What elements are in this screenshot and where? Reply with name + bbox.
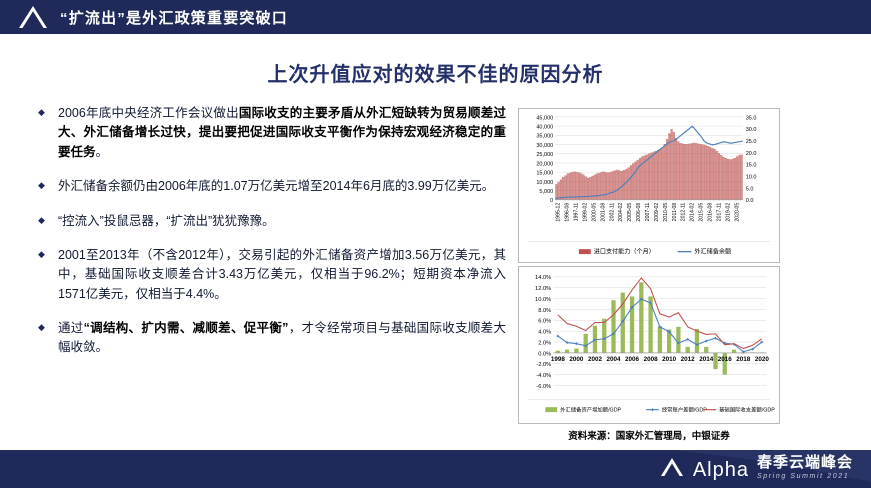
svg-text:1997-11: 1997-11 xyxy=(574,203,580,222)
svg-text:25.0: 25.0 xyxy=(746,139,757,145)
svg-text:1995-12: 1995-12 xyxy=(556,203,562,222)
svg-text:0: 0 xyxy=(550,198,553,204)
svg-text:6.0%: 6.0% xyxy=(538,319,551,325)
chart-1-svg: 05,00010,00015,00020,00025,00030,00035,0… xyxy=(519,109,779,262)
svg-text:2016: 2016 xyxy=(718,356,733,363)
bullet-text: 2001至2013年（不含2012年），交易引起的外汇储备资产增加3.56万亿美… xyxy=(58,246,506,304)
svg-text:45,000: 45,000 xyxy=(536,115,553,121)
svg-text:15,000: 15,000 xyxy=(536,171,553,177)
list-item: ◆ 2001至2013年（不含2012年），交易引起的外汇储备资产增加3.56万… xyxy=(38,246,506,304)
svg-text:30,000: 30,000 xyxy=(536,143,553,149)
svg-text:2002-11: 2002-11 xyxy=(609,203,615,222)
svg-text:2015-05: 2015-05 xyxy=(699,203,705,222)
svg-text:4.0%: 4.0% xyxy=(538,330,551,336)
chart-2-svg: -6.0%-4.0%-2.0%0.0%2.0%4.0%6.0%8.0%10.0%… xyxy=(519,267,779,423)
source-note: 资料来源：国家外汇管理局，中银证券 xyxy=(518,428,780,442)
brand-cn-text: 春季云端峰会 xyxy=(757,455,853,470)
bullet-segment: 通过 xyxy=(58,321,84,335)
slide-header-bar: “扩流出”是外汇政策重要突破口 xyxy=(0,0,871,34)
list-item: ◆ “控流入”投鼠忌器，“扩流出”犹犹豫豫。 xyxy=(38,212,506,231)
svg-text:2020-05: 2020-05 xyxy=(734,203,740,222)
svg-text:0.0: 0.0 xyxy=(746,198,754,204)
svg-text:2011-08: 2011-08 xyxy=(672,203,678,222)
brand-alpha-text: Alpha xyxy=(693,460,749,480)
svg-text:1996-08: 1996-08 xyxy=(565,203,571,222)
svg-text:2018: 2018 xyxy=(736,356,751,363)
svg-text:2004-02: 2004-02 xyxy=(618,203,624,222)
svg-text:12.0%: 12.0% xyxy=(535,286,551,292)
chart-plot-area: 05,00010,00015,00020,00025,00030,00035,0… xyxy=(519,109,779,262)
list-item: ◆ 外汇储备余额仍由2006年底的1.07万亿美元增至2014年6月底的3.99… xyxy=(38,177,506,196)
chart-bop-surplus-gdp: -6.0%-4.0%-2.0%0.0%2.0%4.0%6.0%8.0%10.0%… xyxy=(518,266,780,424)
list-item: ◆ 通过“调结构、扩内需、减顺差、促平衡”，才令经常项目与基础国际收支顺差大幅收… xyxy=(38,319,506,358)
bullet-segment: 。 xyxy=(96,145,109,159)
svg-text:经常账户差额/GDP: 经常账户差额/GDP xyxy=(662,406,707,414)
footer-brand: Alpha 春季云端峰会 Spring Summit 2021 xyxy=(659,455,853,480)
svg-text:2014: 2014 xyxy=(699,356,714,363)
bullet-segment: 外汇储备余额仍由2006年底的1.07万亿美元增至2014年6月底的3.99万亿… xyxy=(58,179,494,193)
svg-text:2006-08: 2006-08 xyxy=(636,203,642,222)
bullet-text: “控流入”投鼠忌器，“扩流出”犹犹豫豫。 xyxy=(58,212,506,231)
svg-text:5,000: 5,000 xyxy=(539,189,553,195)
svg-text:外汇储备资产增加额/GDP: 外汇储备资产增加额/GDP xyxy=(560,406,621,414)
svg-text:-4.0%: -4.0% xyxy=(536,373,551,379)
svg-text:-6.0%: -6.0% xyxy=(536,384,551,390)
bullet-segment-strong: “调结构、扩内需、减顺差、促平衡” xyxy=(84,321,289,335)
svg-text:进口支付能力（个月）: 进口支付能力（个月） xyxy=(594,248,655,256)
svg-text:2012: 2012 xyxy=(681,356,696,363)
svg-text:2006: 2006 xyxy=(625,356,640,363)
svg-text:5.0: 5.0 xyxy=(746,186,754,192)
svg-text:2008: 2008 xyxy=(644,356,659,363)
bullet-text: 2006年底中央经济工作会议做出国际收支的主要矛盾从外汇短缺转为贸易顺差过大、外… xyxy=(58,104,506,162)
svg-text:15.0: 15.0 xyxy=(746,163,757,169)
svg-text:2017-11: 2017-11 xyxy=(716,203,722,222)
slide-footer-bar: Alpha 春季云端峰会 Spring Summit 2021 xyxy=(0,450,871,488)
svg-text:35,000: 35,000 xyxy=(536,134,553,140)
chart-reserves-import-capacity: 05,00010,00015,00020,00025,00030,00035,0… xyxy=(518,108,780,263)
svg-text:2016-08: 2016-08 xyxy=(708,203,714,222)
alpha-letter-icon xyxy=(659,456,685,478)
svg-text:2014-02: 2014-02 xyxy=(690,203,696,222)
svg-text:2002: 2002 xyxy=(588,356,603,363)
header-title: “扩流出”是外汇政策重要突破口 xyxy=(60,7,288,28)
svg-text:2020: 2020 xyxy=(755,356,770,363)
svg-text:2000: 2000 xyxy=(569,356,584,363)
svg-text:25,000: 25,000 xyxy=(536,152,553,158)
chart-plot-area: -6.0%-4.0%-2.0%0.0%2.0%4.0%6.0%8.0%10.0%… xyxy=(519,267,779,423)
svg-text:1999-02: 1999-02 xyxy=(582,203,588,222)
svg-text:10,000: 10,000 xyxy=(536,180,553,186)
svg-text:2007-11: 2007-11 xyxy=(645,203,651,222)
svg-text:10.0%: 10.0% xyxy=(535,297,551,303)
svg-text:2010: 2010 xyxy=(662,356,677,363)
svg-text:2009-02: 2009-02 xyxy=(654,203,660,222)
svg-text:2000-05: 2000-05 xyxy=(591,203,597,222)
svg-text:1998: 1998 xyxy=(551,356,566,363)
bullet-diamond-icon: ◆ xyxy=(38,246,58,304)
page-title: 上次升值应对的效果不佳的原因分析 xyxy=(0,58,871,87)
svg-text:2.0%: 2.0% xyxy=(538,340,551,346)
svg-text:基础国际收支差额/GDP: 基础国际收支差额/GDP xyxy=(719,406,775,414)
svg-text:20.0: 20.0 xyxy=(746,151,757,157)
svg-text:10.0: 10.0 xyxy=(746,174,757,180)
svg-text:30.0: 30.0 xyxy=(746,127,757,133)
svg-text:0.0%: 0.0% xyxy=(538,351,551,357)
svg-text:外汇储备余额: 外汇储备余额 xyxy=(694,248,731,256)
bullet-text: 通过“调结构、扩内需、减顺差、促平衡”，才令经常项目与基础国际收支顺差大幅收敛。 xyxy=(58,319,506,358)
bullet-segment: 2001至2013年（不含2012年），交易引起的外汇储备资产增加3.56万亿美… xyxy=(58,248,506,301)
svg-text:2005-05: 2005-05 xyxy=(627,203,633,222)
bullet-text: 外汇储备余额仍由2006年底的1.07万亿美元增至2014年6月底的3.99万亿… xyxy=(58,177,506,196)
bullet-diamond-icon: ◆ xyxy=(38,177,58,196)
bullet-segment: “控流入”投鼠忌器，“扩流出”犹犹豫豫。 xyxy=(58,214,275,228)
svg-text:14.0%: 14.0% xyxy=(535,275,551,281)
svg-text:8.0%: 8.0% xyxy=(538,308,551,314)
svg-text:2012-11: 2012-11 xyxy=(681,203,687,222)
svg-text:40,000: 40,000 xyxy=(536,124,553,130)
bullet-diamond-icon: ◆ xyxy=(38,104,58,162)
bullet-list: ◆ 2006年底中央经济工作会议做出国际收支的主要矛盾从外汇短缺转为贸易顺差过大… xyxy=(38,104,506,373)
bullet-diamond-icon: ◆ xyxy=(38,319,58,358)
bullet-diamond-icon: ◆ xyxy=(38,212,58,231)
list-item: ◆ 2006年底中央经济工作会议做出国际收支的主要矛盾从外汇短缺转为贸易顺差过大… xyxy=(38,104,506,162)
alpha-triangle-logo-icon xyxy=(16,4,50,30)
svg-text:2010-05: 2010-05 xyxy=(663,203,669,222)
svg-text:2019-02: 2019-02 xyxy=(725,203,731,222)
bullet-segment: 2006年底中央经济工作会议做出 xyxy=(58,106,239,120)
svg-text:20,000: 20,000 xyxy=(536,161,553,167)
svg-text:-2.0%: -2.0% xyxy=(536,362,551,368)
svg-text:35.0: 35.0 xyxy=(746,115,757,121)
svg-text:2004: 2004 xyxy=(606,356,621,363)
svg-text:2001-08: 2001-08 xyxy=(600,203,606,222)
brand-en-text: Spring Summit 2021 xyxy=(757,473,849,480)
